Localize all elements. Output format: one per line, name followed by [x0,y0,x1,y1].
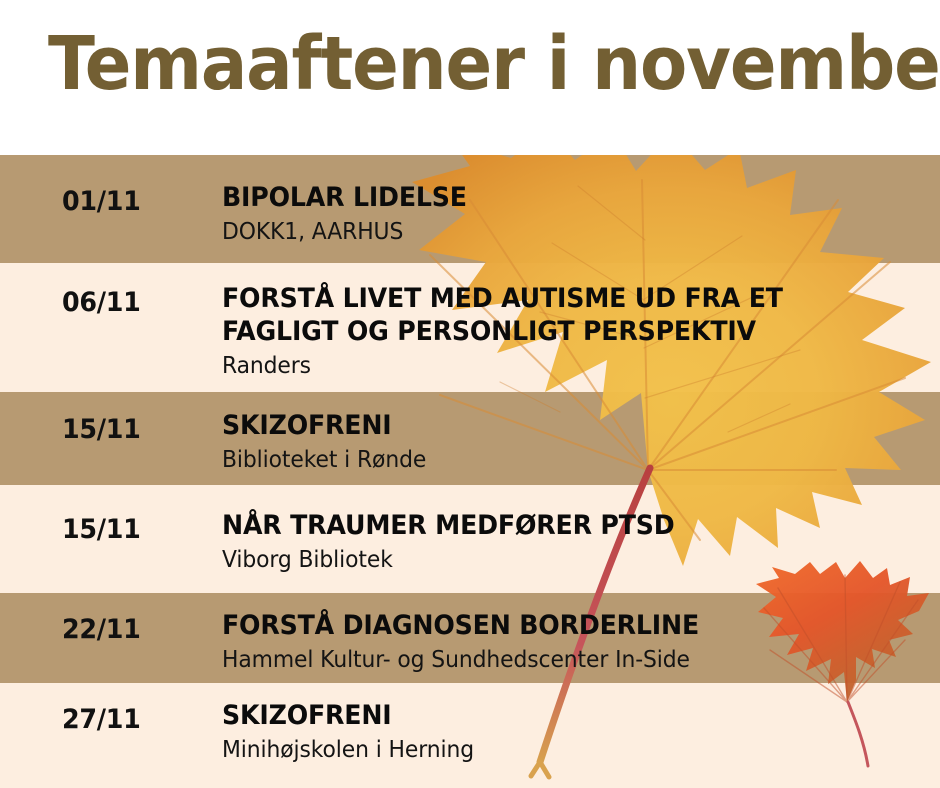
event-body: FORSTÅ DIAGNOSEN BORDERLINE Hammel Kultu… [222,610,922,675]
list-item[interactable]: 15/11 NÅR TRAUMER MEDFØRER PTSD Viborg B… [0,485,940,593]
list-item[interactable]: 06/11 FORSTÅ LIVET MED AUTISME UD FRA ET… [0,263,940,392]
event-venue: Biblioteket i Rønde [222,446,887,475]
list-item[interactable]: 15/11 SKIZOFRENI Biblioteket i Rønde [0,392,940,485]
event-title: NÅR TRAUMER MEDFØRER PTSD [222,510,877,543]
poster-canvas: Temaaftener i november 01/11 BIPOLAR LID… [0,0,940,788]
event-title: FORSTÅ DIAGNOSEN BORDERLINE [222,610,877,643]
event-date: 15/11 [62,414,141,445]
event-date: 15/11 [62,514,141,545]
list-item[interactable]: 27/11 SKIZOFRENI Minihøjskolen i Herning [0,683,940,788]
event-venue: DOKK1, AARHUS [222,218,887,247]
event-body: SKIZOFRENI Biblioteket i Rønde [222,410,922,475]
list-item[interactable]: 01/11 BIPOLAR LIDELSE DOKK1, AARHUS [0,155,940,263]
event-date: 27/11 [62,704,141,735]
event-date: 06/11 [62,287,141,318]
event-date: 22/11 [62,614,141,645]
event-body: NÅR TRAUMER MEDFØRER PTSD Viborg Bibliot… [222,510,922,575]
event-title: FORSTÅ LIVET MED AUTISME UD FRA ET [222,283,877,316]
event-body: BIPOLAR LIDELSE DOKK1, AARHUS [222,182,922,247]
event-venue: Minihøjskolen i Herning [222,736,887,765]
page-title: Temaaftener i november [48,27,940,101]
event-title-line2: FAGLIGT OG PERSONLIGT PERSPEKTIV [222,316,877,349]
event-title: SKIZOFRENI [222,410,877,443]
event-title: SKIZOFRENI [222,700,877,733]
event-body: SKIZOFRENI Minihøjskolen i Herning [222,700,922,765]
poster-header: Temaaftener i november [0,0,940,155]
event-title: BIPOLAR LIDELSE [222,182,877,215]
event-body: FORSTÅ LIVET MED AUTISME UD FRA ET FAGLI… [222,283,922,381]
list-item[interactable]: 22/11 FORSTÅ DIAGNOSEN BORDERLINE Hammel… [0,593,940,683]
event-venue: Randers [222,352,887,381]
event-venue: Hammel Kultur- og Sundhedscenter In-Side [222,646,887,675]
event-date: 01/11 [62,186,141,217]
event-venue: Viborg Bibliotek [222,546,887,575]
